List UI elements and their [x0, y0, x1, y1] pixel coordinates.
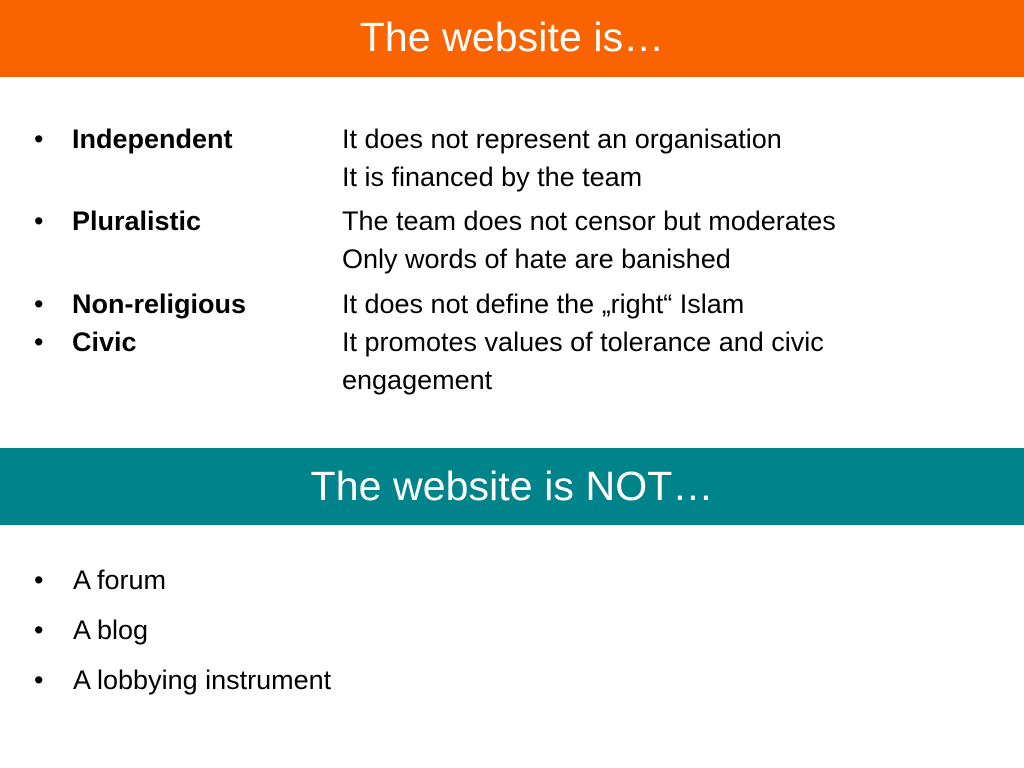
- list-item-civic: • Civic It promotes values of tolerance …: [0, 323, 1024, 399]
- banner-website-is-not-title: The website is NOT…: [311, 466, 714, 507]
- list-item-independent: • Independent It does not represent an o…: [0, 120, 1024, 196]
- list-item-blog: • A blog: [0, 610, 1024, 660]
- banner-website-is: The website is…: [0, 0, 1024, 77]
- bullet-icon: •: [34, 610, 43, 650]
- list-item-term: Non-religious: [72, 285, 342, 323]
- banner-website-is-title: The website is…: [360, 17, 665, 58]
- bullet-icon: •: [34, 120, 48, 158]
- list-item-description: It does not define the „right“ Islam: [342, 285, 744, 323]
- bullet-icon: •: [34, 323, 48, 361]
- list-item-label: A blog: [73, 610, 148, 650]
- bullet-icon: •: [34, 560, 43, 600]
- list-item-description: The team does not censor but moderates O…: [342, 202, 836, 278]
- bullet-icon: •: [34, 285, 48, 323]
- bullet-icon: •: [34, 202, 48, 240]
- list-item-label: A forum: [73, 560, 166, 600]
- list-item-description: It does not represent an organisation It…: [342, 120, 782, 196]
- list-item-non-religious: • Non-religious It does not define the „…: [0, 285, 1024, 323]
- list-item-description: It promotes values of tolerance and civi…: [342, 323, 824, 399]
- list-item-lobbying-instrument: • A lobbying instrument: [0, 660, 1024, 710]
- list-item-pluralistic: • Pluralistic The team does not censor b…: [0, 202, 1024, 278]
- list-item-term: Pluralistic: [72, 202, 342, 240]
- bullet-icon: •: [34, 660, 43, 700]
- list-item-term: Civic: [72, 323, 342, 361]
- website-is-list: • Independent It does not represent an o…: [0, 120, 1024, 399]
- list-item-term: Independent: [72, 120, 342, 158]
- banner-website-is-not: The website is NOT…: [0, 448, 1024, 525]
- website-is-not-list: • A forum • A blog • A lobbying instrume…: [0, 560, 1024, 710]
- slide: The website is… • Independent It does no…: [0, 0, 1024, 768]
- list-item-forum: • A forum: [0, 560, 1024, 610]
- list-item-label: A lobbying instrument: [73, 660, 331, 700]
